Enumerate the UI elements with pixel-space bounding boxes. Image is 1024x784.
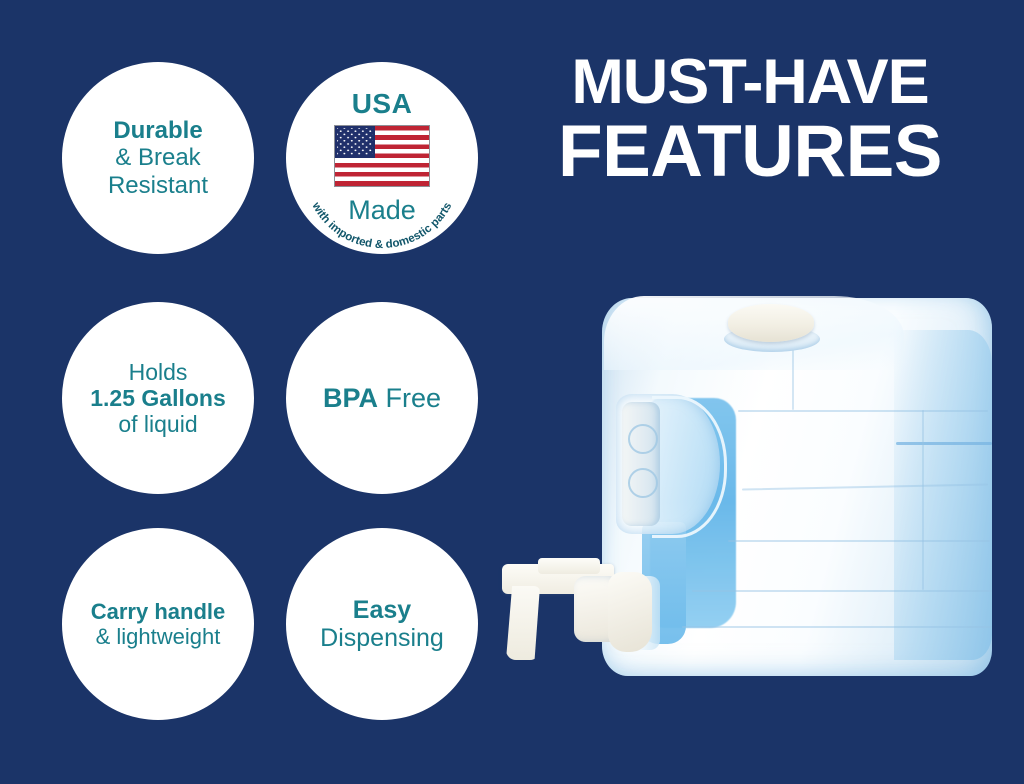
jug-rear-panel: [894, 330, 992, 660]
feature-line: Easy: [320, 596, 444, 625]
jug-seam: [692, 590, 992, 592]
page-title: MUST-HAVE FEATURES: [500, 52, 1000, 187]
feature-line-regular: Free: [386, 383, 442, 413]
feature-text-carry-handle: Carry handle & lightweight: [81, 599, 236, 649]
feature-line: Dispensing: [320, 624, 444, 653]
feature-bubble-bpa-free: BPA Free: [286, 302, 478, 494]
feature-line: BPA Free: [323, 383, 441, 414]
jug-seam: [792, 350, 794, 410]
jug-seam: [922, 410, 924, 590]
feature-line: Resistant: [108, 172, 208, 199]
jug-carry-handle-grip: [622, 402, 660, 526]
spigot-spout: [506, 586, 540, 660]
feature-bubble-carry-handle: Carry handle & lightweight: [62, 528, 254, 720]
feature-line-bold: BPA: [323, 383, 378, 413]
feature-text-easy-dispensing: Easy Dispensing: [310, 596, 454, 653]
jug-seam: [682, 626, 992, 628]
feature-bubble-capacity: Holds 1.25 Gallons of liquid: [62, 302, 254, 494]
feature-line: Durable: [108, 117, 208, 144]
feature-text-bpa-free: BPA Free: [313, 383, 451, 414]
jug-seam: [738, 410, 988, 412]
product-image-water-dispenser: [492, 290, 1016, 702]
feature-text-durable: Durable & Break Resistant: [98, 117, 218, 199]
feature-line: of liquid: [90, 411, 226, 437]
usa-badge: USA Made with imported & domestic parts: [286, 62, 478, 254]
headline-line-2: FEATURES: [500, 116, 1000, 188]
feature-line: Carry handle: [91, 599, 226, 624]
feature-bubble-durable: Durable & Break Resistant: [62, 62, 254, 254]
svg-text:with imported & domestic parts: with imported & domestic parts: [309, 200, 454, 251]
jug-water-line: [896, 442, 992, 445]
feature-line: & lightweight: [91, 624, 226, 649]
infographic-canvas: MUST-HAVE FEATURES Durable & Break Resis…: [0, 0, 1024, 784]
feature-line: & Break: [108, 144, 208, 171]
feature-line: 1.25 Gallons: [90, 385, 226, 411]
usa-arc-label: with imported & domestic parts: [309, 200, 454, 251]
feature-bubble-easy-dispensing: Easy Dispensing: [286, 528, 478, 720]
spigot-valve: [608, 572, 652, 652]
jug-cap: [728, 304, 814, 342]
feature-text-capacity: Holds 1.25 Gallons of liquid: [80, 359, 236, 438]
jug-seam: [728, 540, 990, 542]
headline-line-1: MUST-HAVE: [500, 52, 1000, 114]
spigot-lever: [538, 558, 600, 574]
feature-line: Holds: [90, 359, 226, 385]
usa-arc-text: with imported & domestic parts: [286, 62, 478, 254]
feature-bubble-usa-made: USA Made with imported & domestic parts: [286, 62, 478, 254]
